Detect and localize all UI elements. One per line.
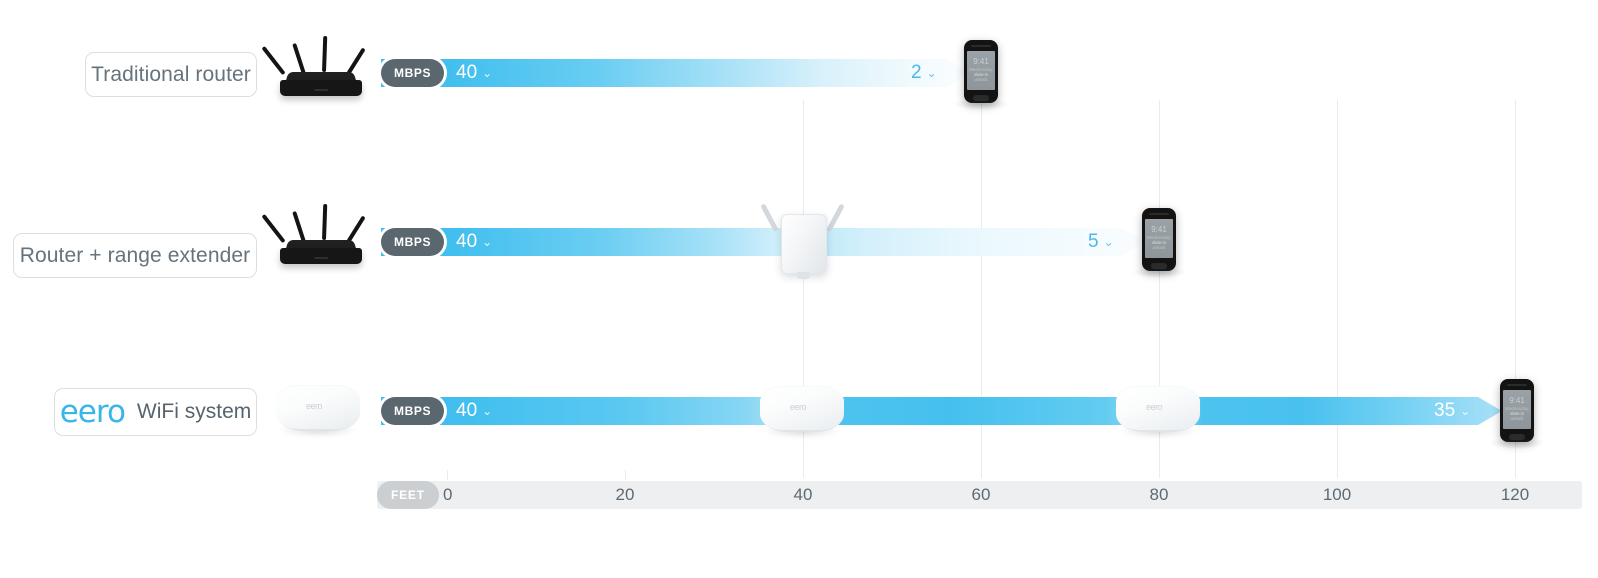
- eero-logo-text: eero: [790, 402, 806, 412]
- row-label-traditional-router: Traditional router: [85, 52, 257, 97]
- axis-tick-80: 80: [1150, 481, 1169, 509]
- gridline-20ft: [625, 470, 626, 480]
- feet-pill: FEET: [377, 481, 439, 509]
- mbps-pill-label: MBPS: [394, 66, 431, 80]
- router-led: [314, 257, 328, 259]
- row-label-eero-wifi-system: eero WiFi system: [54, 388, 257, 436]
- axis-tick-0: 0: [443, 481, 452, 509]
- phone-screen: 9:41 Wednesday, June 1 slide to unlock: [1503, 390, 1531, 429]
- phone-time: 9:41: [1503, 396, 1531, 405]
- range-extender-icon: [781, 214, 825, 280]
- router-body: [280, 80, 362, 96]
- smartphone-icon: 9:41 Wednesday, June 1 slide to unlock: [1500, 379, 1534, 442]
- signal-bar-fill: [381, 397, 1478, 425]
- smartphone-icon: 9:41 Wednesday, June 1 slide to unlock: [964, 40, 998, 103]
- router-antenna: [292, 211, 306, 243]
- signal-start-value: 40 ⌄: [456, 397, 492, 425]
- axis-tick-120: 120: [1501, 481, 1529, 509]
- eero-icon: eero: [760, 386, 844, 438]
- row-label-text: Router + range extender: [20, 244, 251, 268]
- router-antenna: [346, 215, 365, 243]
- axis-tick-40: 40: [794, 481, 813, 509]
- row-label-router-range-extender: Router + range extender: [13, 233, 257, 278]
- signal-end-value: 2 ⌄: [911, 59, 937, 87]
- eero-logo-text: eero: [306, 401, 322, 411]
- eero-icon: eero: [1116, 386, 1200, 438]
- feet-pill-label: FEET: [391, 488, 425, 502]
- mbps-pill: MBPS: [381, 397, 444, 425]
- infographic-canvas: Traditional router MBPS 40 ⌄ 2 ⌄ 9:41 We…: [0, 0, 1598, 578]
- router-antenna: [322, 36, 327, 72]
- phone-speaker: [1507, 384, 1527, 386]
- phone-slide-to-unlock: slide to unlock: [1145, 240, 1173, 250]
- router-antenna: [322, 204, 327, 240]
- router-antenna: [261, 214, 285, 243]
- chevron-down-icon: ⌄: [482, 405, 492, 417]
- mbps-pill: MBPS: [381, 228, 444, 256]
- phone-time: 9:41: [967, 57, 995, 66]
- mbps-pill: MBPS: [381, 59, 444, 87]
- router-body: [280, 248, 362, 264]
- phone-shadow: [952, 98, 1010, 110]
- phone-speaker: [971, 45, 991, 47]
- gridline-0ft: [447, 470, 448, 480]
- router-antenna: [346, 47, 365, 75]
- extender-body: [781, 214, 827, 274]
- signal-bar-router-range-extender: MBPS 40 ⌄ 5 ⌄: [381, 228, 1122, 256]
- router-antenna: [292, 43, 306, 75]
- row-label-text: Traditional router: [91, 63, 251, 87]
- signal-bar-eero-wifi-system: MBPS 40 ⌄ 35 ⌄: [381, 397, 1478, 425]
- router-icon: [280, 38, 364, 96]
- smartphone-icon: 9:41 Wednesday, June 1 slide to unlock: [1142, 208, 1176, 271]
- signal-start-value: 40 ⌄: [456, 59, 492, 87]
- eero-logo-text: eero: [1146, 402, 1162, 412]
- router-icon: [280, 206, 364, 264]
- eero-logo-text: eero: [60, 394, 125, 430]
- phone-slide-to-unlock: slide to unlock: [1503, 411, 1531, 421]
- router-led: [314, 89, 328, 91]
- phone-slide-to-unlock: slide to unlock: [967, 72, 995, 82]
- mbps-pill-label: MBPS: [394, 235, 431, 249]
- signal-bar-traditional-router: MBPS 40 ⌄ 2 ⌄: [381, 59, 947, 87]
- axis-tick-20: 20: [616, 481, 635, 509]
- row-label-text: WiFi system: [137, 400, 251, 424]
- signal-start-value: 40 ⌄: [456, 228, 492, 256]
- feet-axis: FEET 0 20 40 60 80 100 120: [377, 481, 1582, 509]
- chevron-down-icon: ⌄: [482, 67, 492, 79]
- phone-speaker: [1149, 213, 1169, 215]
- axis-tick-60: 60: [972, 481, 991, 509]
- mbps-pill-label: MBPS: [394, 404, 431, 418]
- chevron-down-icon: ⌄: [1460, 405, 1470, 417]
- signal-end-value: 35 ⌄: [1434, 397, 1470, 425]
- eero-icon: eero: [276, 385, 360, 437]
- chevron-down-icon: ⌄: [482, 236, 492, 248]
- signal-bar-arrow-tip: [1478, 397, 1502, 425]
- phone-time: 9:41: [1145, 225, 1173, 234]
- phone-shadow: [1488, 437, 1546, 449]
- chevron-down-icon: ⌄: [1104, 236, 1114, 248]
- phone-screen: 9:41 Wednesday, June 1 slide to unlock: [967, 51, 995, 90]
- phone-shadow: [1130, 266, 1188, 278]
- phone-screen: 9:41 Wednesday, June 1 slide to unlock: [1145, 219, 1173, 258]
- extender-plug: [797, 272, 810, 279]
- router-antenna: [261, 46, 285, 75]
- signal-end-value: 5 ⌄: [1088, 228, 1114, 256]
- chevron-down-icon: ⌄: [927, 67, 937, 79]
- axis-tick-100: 100: [1323, 481, 1351, 509]
